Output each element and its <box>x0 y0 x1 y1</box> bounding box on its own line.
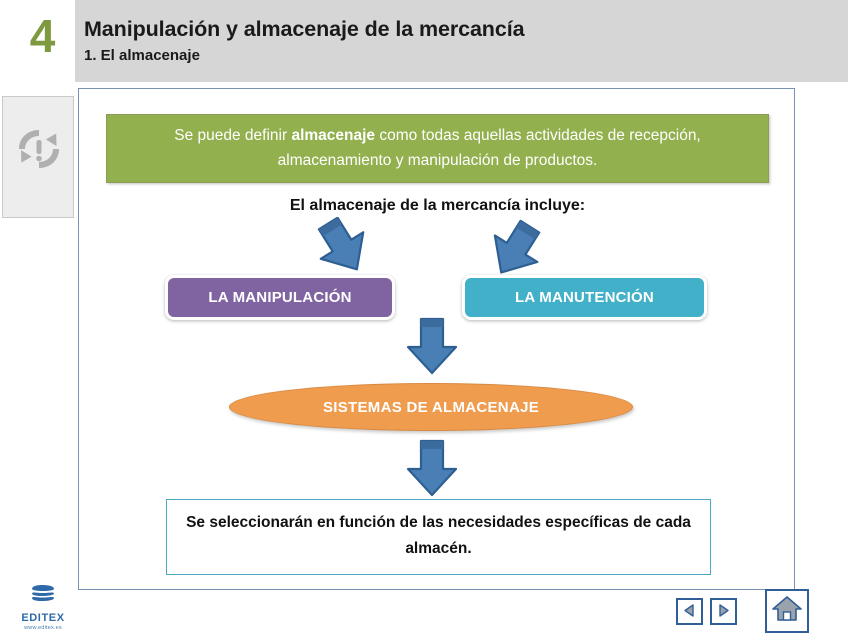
definition-text-before: Se puede definir <box>174 127 291 144</box>
header-text-group: Manipulación y almacenaje de la mercancí… <box>84 16 524 66</box>
box-la-manipulacion[interactable]: LA MANIPULACIÓN <box>165 275 395 320</box>
home-button[interactable] <box>765 589 809 633</box>
arrow-down-right-icon <box>477 217 549 284</box>
definition-banner: Se puede definir almacenaje como todas a… <box>106 114 769 183</box>
home-icon <box>772 595 802 628</box>
box-la-manutencion-label: LA MANUTENCIÓN <box>515 289 654 306</box>
conclusion-box: Se seleccionarán en función de las neces… <box>166 499 711 575</box>
ellipse-sistemas-de-almacenaje[interactable]: SISTEMAS DE ALMACENAJE <box>229 383 633 431</box>
editex-logo: EDITEX www.editex.es <box>12 584 74 632</box>
chapter-number: 4 <box>14 6 70 66</box>
previous-slide-button[interactable] <box>676 598 703 625</box>
next-slide-button[interactable] <box>710 598 737 625</box>
logo-wordmark: EDITEX <box>12 612 74 624</box>
page-title: Manipulación y almacenaje de la mercancí… <box>84 16 524 42</box>
box-la-manutencion[interactable]: LA MANUTENCIÓN <box>462 275 707 320</box>
definition-text-bold: almacenaje <box>291 127 375 144</box>
chevron-right-icon <box>716 603 731 621</box>
slide-content-panel: Se puede definir almacenaje como todas a… <box>78 88 795 590</box>
page-subtitle: 1. El almacenaje <box>84 45 524 66</box>
conclusion-line-1: Se seleccionarán en función de las neces… <box>186 514 629 531</box>
book-icon <box>28 593 58 610</box>
slide-navigation <box>676 598 737 625</box>
lead-in-text: El almacenaje de la mercancía incluye: <box>79 197 796 215</box>
chevron-left-icon <box>682 603 697 621</box>
arrow-down-left-icon <box>304 217 376 284</box>
slide-header: 4 Manipulación y almacenaje de la mercan… <box>0 0 848 82</box>
logo-url: www.editex.es <box>12 624 74 632</box>
reload-side-tab[interactable] <box>2 96 74 218</box>
arrow-down-bottom-icon <box>401 437 463 504</box>
arrow-down-middle-icon <box>401 315 463 382</box>
ellipse-label: SISTEMAS DE ALMACENAJE <box>323 399 539 416</box>
box-la-manipulacion-label: LA MANIPULACIÓN <box>208 289 351 306</box>
